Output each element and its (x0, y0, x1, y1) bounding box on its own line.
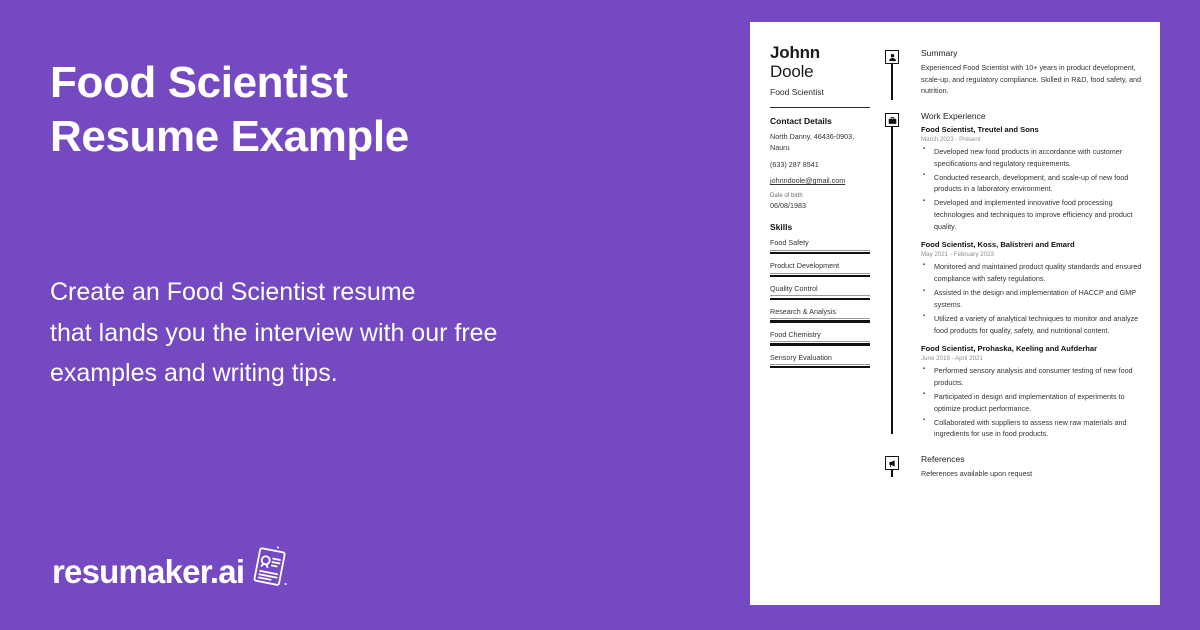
job-dates: June 2019 - April 2021 (921, 355, 1143, 362)
section-title: References (921, 454, 1143, 464)
dob-value: 06/08/1983 (770, 201, 870, 211)
references-text: References available upon request (921, 468, 1143, 480)
job-bullet: Utilized a variety of analytical techniq… (921, 313, 1143, 336)
skill-level-bar (770, 320, 870, 322)
resume-left-column: Johnn Doole Food Scientist Contact Detai… (770, 44, 870, 375)
skill-level-bar (770, 343, 870, 345)
section-title: Work Experience (921, 111, 1143, 121)
resume-first-name: Johnn (770, 44, 870, 62)
skill-level-bar (770, 275, 870, 277)
contact-details-heading: Contact Details (770, 116, 870, 126)
contact-address: North Danny, 46436-0903, Nauru (770, 131, 870, 153)
dob-label: Date of birth (770, 192, 870, 200)
brand-logo-text: resumaker.ai (52, 553, 244, 591)
timeline-connector (891, 470, 892, 477)
resume-document-icon (248, 544, 290, 595)
job-title: Food Scientist, Treutel and Sons (921, 125, 1143, 135)
job-entry: Food Scientist, Koss, Balistreri and Ema… (921, 240, 1143, 336)
skill-level-bar (770, 366, 870, 368)
job-title: Food Scientist, Koss, Balistreri and Ema… (921, 240, 1143, 250)
skills-heading: Skills (770, 222, 870, 232)
megaphone-icon (885, 456, 899, 470)
skill-level-bar (770, 298, 870, 300)
job-bullets: Performed sensory analysis and consumer … (921, 365, 1143, 440)
job-dates: March 2023 - Present (921, 136, 1143, 143)
timeline-connector (891, 64, 892, 100)
skill-item: Food Chemistry (770, 330, 870, 346)
job-bullets: Monitored and maintained product quality… (921, 261, 1143, 336)
skill-label: Quality Control (770, 284, 870, 297)
job-entry: Food Scientist, Treutel and Sons March 2… (921, 125, 1143, 232)
job-bullets: Developed new food products in accordanc… (921, 146, 1143, 233)
skill-label: Product Development (770, 261, 870, 274)
promo-subtitle: Create an Food Scientist resume that lan… (50, 272, 497, 394)
page-title: Food Scientist Resume Example (50, 56, 409, 163)
brand-logo[interactable]: resumaker.ai (52, 548, 290, 595)
job-bullet: Monitored and maintained product quality… (921, 261, 1143, 284)
section-title: Summary (921, 48, 1143, 58)
timeline-connector (891, 127, 892, 434)
skill-item: Quality Control (770, 284, 870, 300)
resume-last-name: Doole (770, 62, 870, 81)
skill-item: Research & Analysis (770, 307, 870, 323)
skill-label: Food Safety (770, 238, 870, 251)
skill-label: Research & Analysis (770, 307, 870, 320)
contact-phone: (633) 287 8541 (770, 159, 870, 170)
job-bullet: Developed and implemented innovative foo… (921, 197, 1143, 232)
skills-list: Food Safety Product Development Quality … (770, 238, 870, 368)
resume-preview-card[interactable]: Johnn Doole Food Scientist Contact Detai… (750, 22, 1160, 605)
promo-panel: Food Scientist Resume Example Create an … (0, 0, 750, 630)
resume-job-role: Food Scientist (770, 87, 870, 97)
job-bullet: Developed new food products in accordanc… (921, 146, 1143, 169)
job-dates: May 2021 - February 2023 (921, 251, 1143, 258)
job-title: Food Scientist, Prohaska, Keeling and Au… (921, 344, 1143, 354)
summary-text: Experienced Food Scientist with 10+ year… (921, 62, 1143, 97)
divider (770, 107, 870, 108)
job-entry: Food Scientist, Prohaska, Keeling and Au… (921, 344, 1143, 440)
skill-item: Product Development (770, 261, 870, 277)
skill-level-bar (770, 252, 870, 254)
section-work-experience: Work Experience Food Scientist, Treutel … (885, 111, 1143, 440)
job-bullet: Assisted in the design and implementatio… (921, 287, 1143, 310)
skill-label: Sensory Evaluation (770, 353, 870, 366)
section-summary: Summary Experienced Food Scientist with … (885, 48, 1143, 106)
briefcase-icon (885, 113, 899, 127)
skill-item: Food Safety (770, 238, 870, 254)
person-icon (885, 50, 899, 64)
section-references: References References available upon req… (885, 454, 1143, 480)
job-bullet: Performed sensory analysis and consumer … (921, 365, 1143, 388)
job-bullet: Participated in design and implementatio… (921, 391, 1143, 414)
resume-right-column: Summary Experienced Food Scientist with … (885, 48, 1143, 480)
skill-label: Food Chemistry (770, 330, 870, 343)
skill-item: Sensory Evaluation (770, 353, 870, 369)
job-bullet: Collaborated with suppliers to assess ne… (921, 417, 1143, 440)
job-bullet: Conducted research, development, and sca… (921, 172, 1143, 195)
contact-email[interactable]: johnndoole@gmail.com (770, 176, 870, 185)
